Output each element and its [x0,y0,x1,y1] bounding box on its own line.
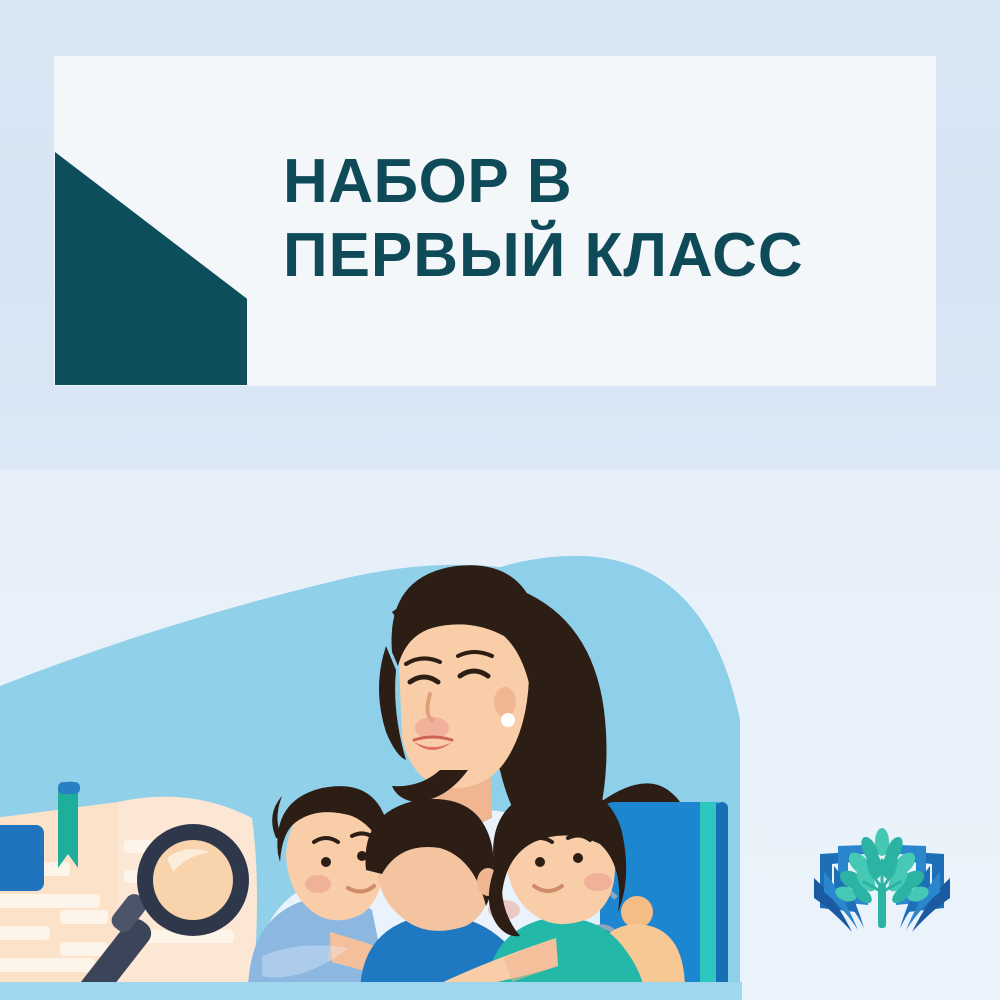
book-sticky-note [0,825,44,891]
open-book-with-tree-logo [812,826,952,944]
desk-surface [0,982,742,1000]
page-title: НАБОР В ПЕРВЫЙ КЛАСС [283,145,923,293]
title-line-2: ПЕРВЫЙ КЛАСС [283,219,923,293]
poster-root: НАБОР В ПЕРВЫЙ КЛАСС [0,0,1000,1000]
title-line-1: НАБОР В [283,145,923,219]
